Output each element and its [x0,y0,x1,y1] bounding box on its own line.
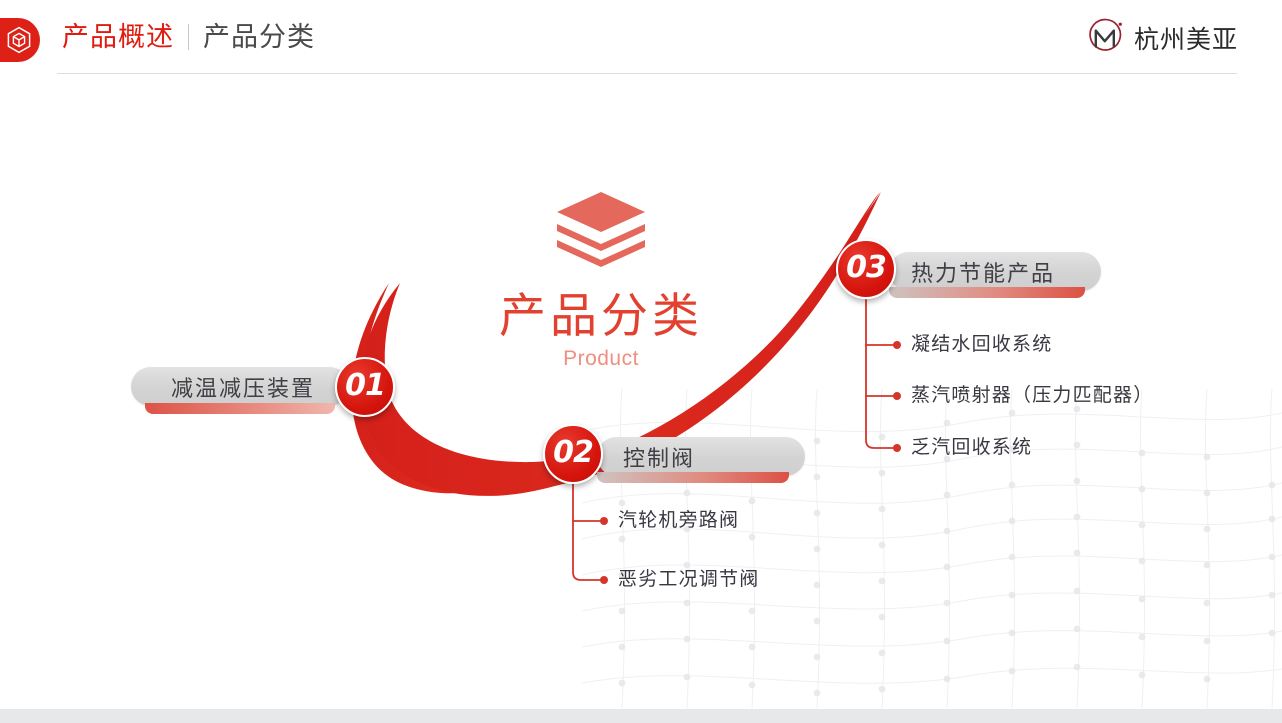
cube-hexagon-icon [6,26,32,54]
bottom-strip [0,709,1282,723]
node-01-underbar [145,403,335,414]
brand-name: 杭州美亚 [1134,20,1238,56]
node-02-badge[interactable]: 02 [543,424,603,484]
node-02-underbar [597,472,789,483]
m-circle-logo-icon [1084,17,1126,59]
node-03-bullet-2-text: 蒸汽喷射器（压力匹配器） [911,384,1153,408]
node-02-bullet-2[interactable]: 恶劣工况调节阀 [600,568,759,592]
layers-stack-icon [553,190,649,268]
page-title-secondary: 产品分类 [203,20,315,54]
bullet-dot-icon [893,341,901,349]
node-02-bullet-1-text: 汽轮机旁路阀 [618,509,739,533]
node-03-bullet-2[interactable]: 蒸汽喷射器（压力匹配器） [893,384,1153,408]
bullet-dot-icon [600,576,608,584]
node-01-number: 01 [345,371,385,401]
node-03-underbar [889,287,1085,298]
node-02-bullet-1[interactable]: 汽轮机旁路阀 [600,509,739,533]
center-title: 产品分类 [441,288,761,344]
node-02-number: 02 [553,438,593,468]
slide-header: 产品概述 产品分类 杭州美亚 [0,0,1282,74]
header-breadcrumb: 产品概述 产品分类 [62,20,315,54]
slide-canvas: 产品概述 产品分类 杭州美亚 [0,0,1282,723]
node-03-pill[interactable]: 热力节能产品 [889,252,1101,291]
header-badge [0,18,40,62]
node-02-pill[interactable]: 控制阀 [597,437,805,476]
node-03-badge[interactable]: 03 [836,239,896,299]
node-03-bullet-1-text: 凝结水回收系统 [911,333,1052,357]
node-03-bullet-3[interactable]: 乏汽回收系统 [893,436,1032,460]
node-03-number: 03 [846,253,886,283]
bullet-dot-icon [893,444,901,452]
node-03-label: 热力节能产品 [911,256,1055,288]
node-01-badge[interactable]: 01 [335,357,395,417]
page-title-primary: 产品概述 [62,20,174,54]
node-01-label: 减温减压装置 [171,371,315,403]
node-03-bullet-1[interactable]: 凝结水回收系统 [893,333,1052,357]
center-title-block: 产品分类 Product [441,190,761,372]
brand-lockup: 杭州美亚 [1084,17,1238,59]
title-separator [188,24,189,50]
bullet-dot-icon [600,517,608,525]
node-01-pill[interactable]: 减温减压装置 [131,367,349,406]
node-02-label: 控制阀 [623,441,695,473]
center-subtitle: Product [441,346,761,372]
bullet-dot-icon [893,392,901,400]
header-divider-rule [57,73,1237,74]
node-02-bullet-2-text: 恶劣工况调节阀 [618,568,759,592]
node-03-bullet-3-text: 乏汽回收系统 [911,436,1032,460]
